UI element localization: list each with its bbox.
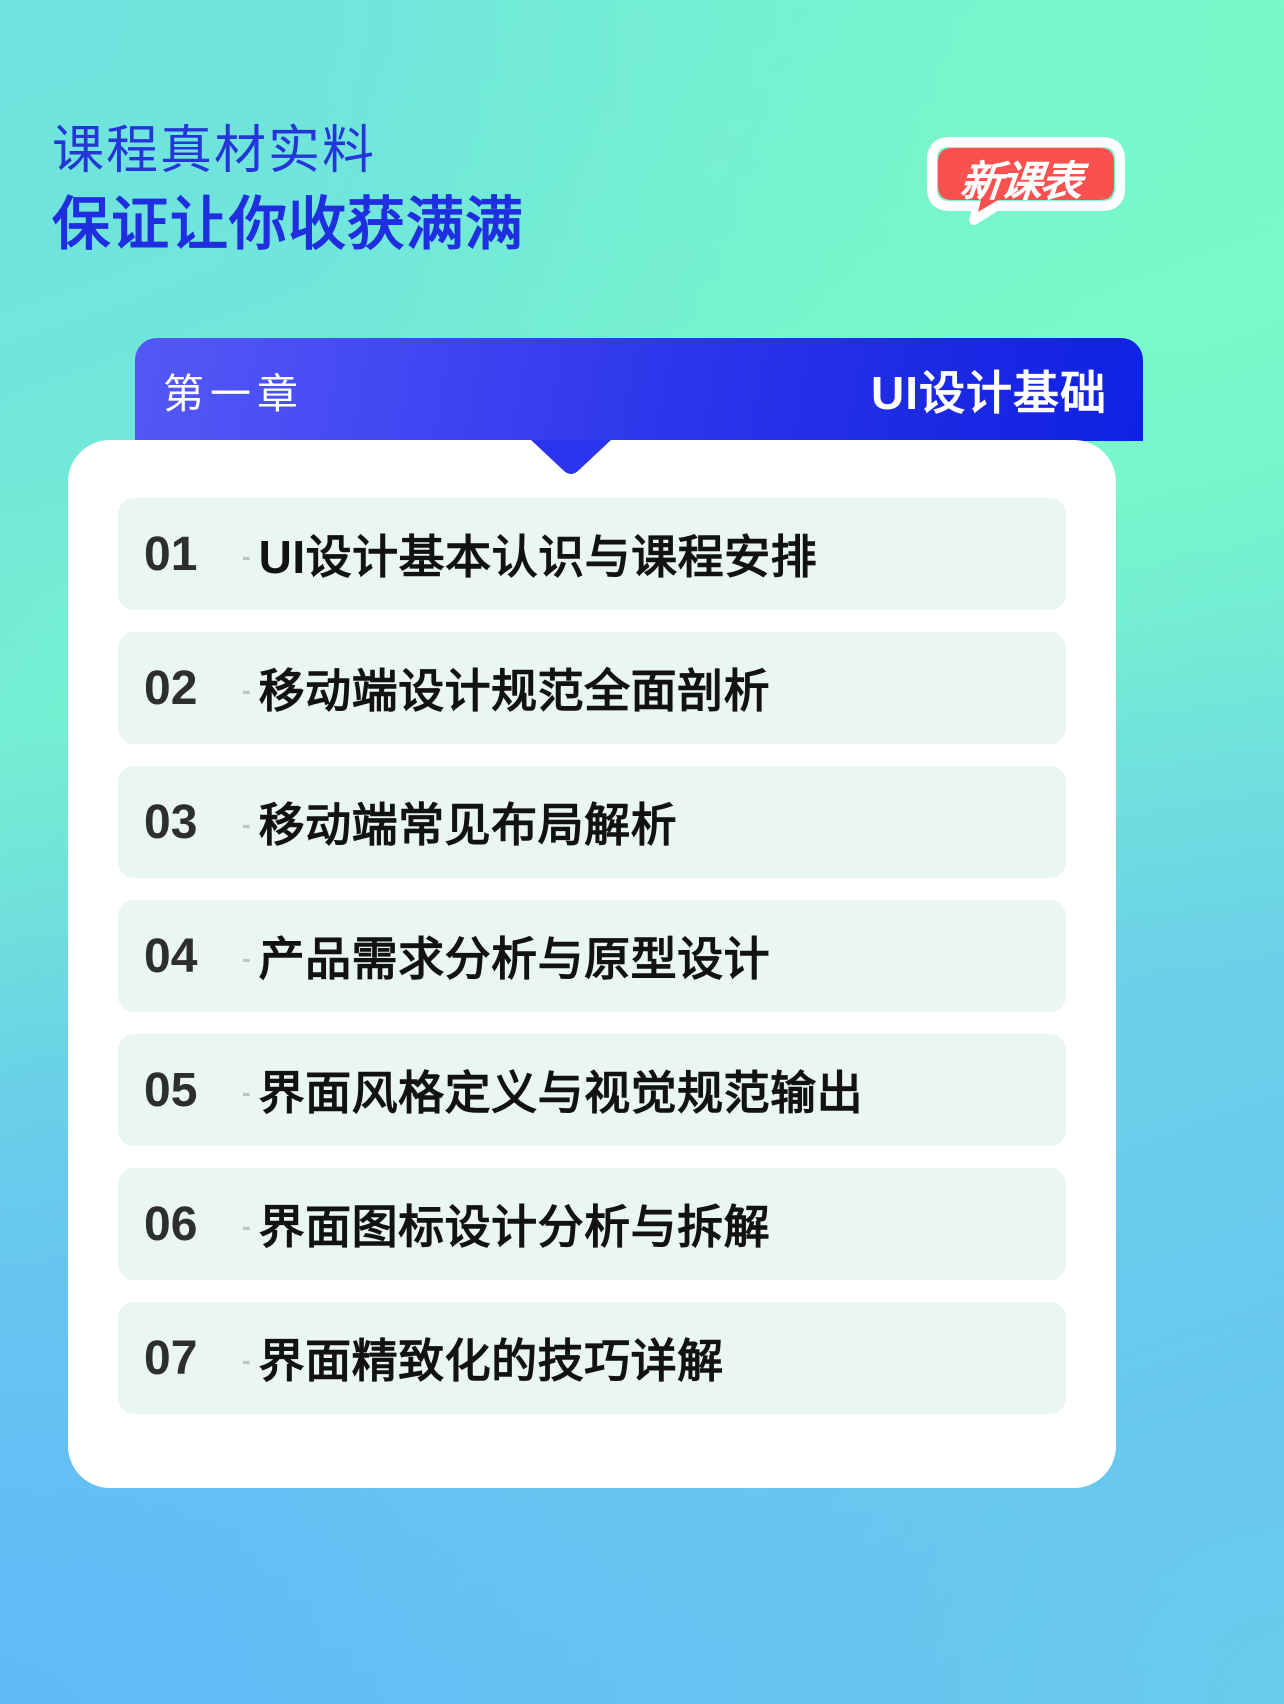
promo-badge-label: 新课表 bbox=[918, 136, 1125, 220]
chapter-bar-notch bbox=[531, 440, 611, 474]
lesson-list: 01 - UI设计基本认识与课程安排 02 - 移动端设计规范全面剖析 03 -… bbox=[118, 498, 1066, 1414]
promo-badge: 新课表 bbox=[922, 136, 1120, 220]
lesson-separator: - bbox=[242, 1213, 251, 1239]
chapter-header-bar: 第一章 UI设计基础 bbox=[135, 338, 1143, 441]
triangle-down-icon bbox=[531, 440, 611, 474]
list-item[interactable]: 05 - 界面风格定义与视觉规范输出 bbox=[118, 1034, 1066, 1146]
page-headline: 课程真材实料 保证让你收获满满 bbox=[52, 118, 524, 262]
lesson-separator: - bbox=[242, 1347, 251, 1373]
lesson-separator: - bbox=[242, 677, 251, 703]
list-item[interactable]: 07 - 界面精致化的技巧详解 bbox=[118, 1302, 1066, 1414]
lesson-number: 02 bbox=[144, 661, 240, 716]
list-item[interactable]: 01 - UI设计基本认识与课程安排 bbox=[118, 498, 1066, 610]
lesson-number: 06 bbox=[144, 1197, 240, 1252]
lesson-separator: - bbox=[242, 811, 251, 837]
lesson-card: 01 - UI设计基本认识与课程安排 02 - 移动端设计规范全面剖析 03 -… bbox=[68, 440, 1116, 1488]
chapter-label: 第一章 bbox=[163, 360, 304, 420]
lesson-title: UI设计基本认识与课程安排 bbox=[259, 521, 818, 587]
chapter-title: UI设计基础 bbox=[871, 357, 1107, 423]
lesson-title: 产品需求分析与原型设计 bbox=[259, 923, 771, 989]
list-item[interactable]: 02 - 移动端设计规范全面剖析 bbox=[118, 632, 1066, 744]
lesson-title: 移动端常见布局解析 bbox=[259, 789, 678, 855]
lesson-number: 03 bbox=[144, 795, 240, 850]
lesson-number: 07 bbox=[144, 1331, 240, 1386]
lesson-number: 04 bbox=[144, 929, 240, 984]
lesson-title: 移动端设计规范全面剖析 bbox=[259, 655, 771, 721]
lesson-title: 界面风格定义与视觉规范输出 bbox=[259, 1057, 864, 1123]
lesson-separator: - bbox=[242, 945, 251, 971]
lesson-title: 界面精致化的技巧详解 bbox=[259, 1325, 724, 1391]
lesson-number: 01 bbox=[144, 527, 240, 582]
lesson-separator: - bbox=[242, 543, 251, 569]
list-item[interactable]: 03 - 移动端常见布局解析 bbox=[118, 766, 1066, 878]
list-item[interactable]: 06 - 界面图标设计分析与拆解 bbox=[118, 1168, 1066, 1280]
page-title: 保证让你收获满满 bbox=[52, 188, 524, 262]
list-item[interactable]: 04 - 产品需求分析与原型设计 bbox=[118, 900, 1066, 1012]
headline-subtitle: 课程真材实料 bbox=[52, 118, 524, 184]
lesson-separator: - bbox=[242, 1079, 251, 1105]
lesson-number: 05 bbox=[144, 1063, 240, 1118]
lesson-title: 界面图标设计分析与拆解 bbox=[259, 1191, 771, 1257]
